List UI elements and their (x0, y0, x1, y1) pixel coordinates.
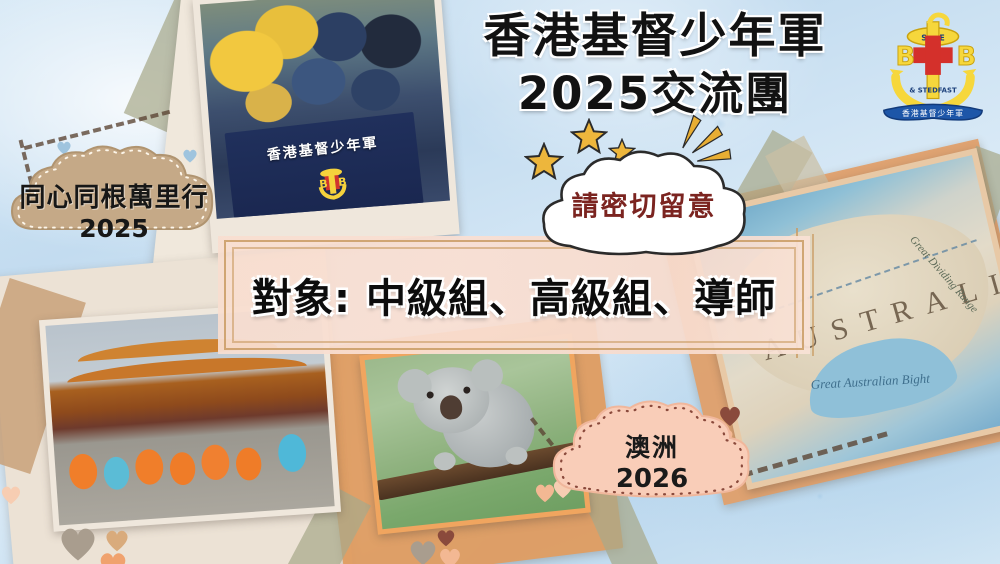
logo-motto-bottom: & STEDFAST (909, 87, 957, 95)
logo-letter-left: B (896, 42, 915, 72)
logo-letter-right: B (957, 42, 976, 72)
flag-emblem-icon: B B (310, 162, 354, 206)
destination-cloud: 澳洲 2026 (548, 398, 756, 508)
heart-icon (58, 524, 98, 564)
svg-text:B: B (338, 175, 348, 189)
announcement-cloud: 請密切留意 (536, 148, 752, 260)
theme-cloud: 同心同根萬里行 2025 (6, 143, 222, 248)
photo-group-with-banner: 香港基督少年軍 B B (192, 0, 459, 253)
heart-icon (408, 538, 438, 564)
poster-canvas: 香港基督少年軍 B B (0, 0, 1000, 564)
svg-text:B: B (319, 177, 329, 191)
boys-brigade-logo: SURE B B & STEDFAST 香港基督少年軍 (874, 4, 992, 134)
banner-frame-overhang2 (812, 234, 814, 356)
heart-icon (438, 546, 462, 564)
title-line-1: 香港基督少年軍 (455, 8, 855, 66)
heart-icon (98, 550, 128, 564)
poster-title: 香港基督少年軍 2025交流團 (455, 8, 855, 122)
logo-ribbon-text: 香港基督少年軍 (902, 108, 964, 118)
heart-icon (0, 484, 22, 510)
